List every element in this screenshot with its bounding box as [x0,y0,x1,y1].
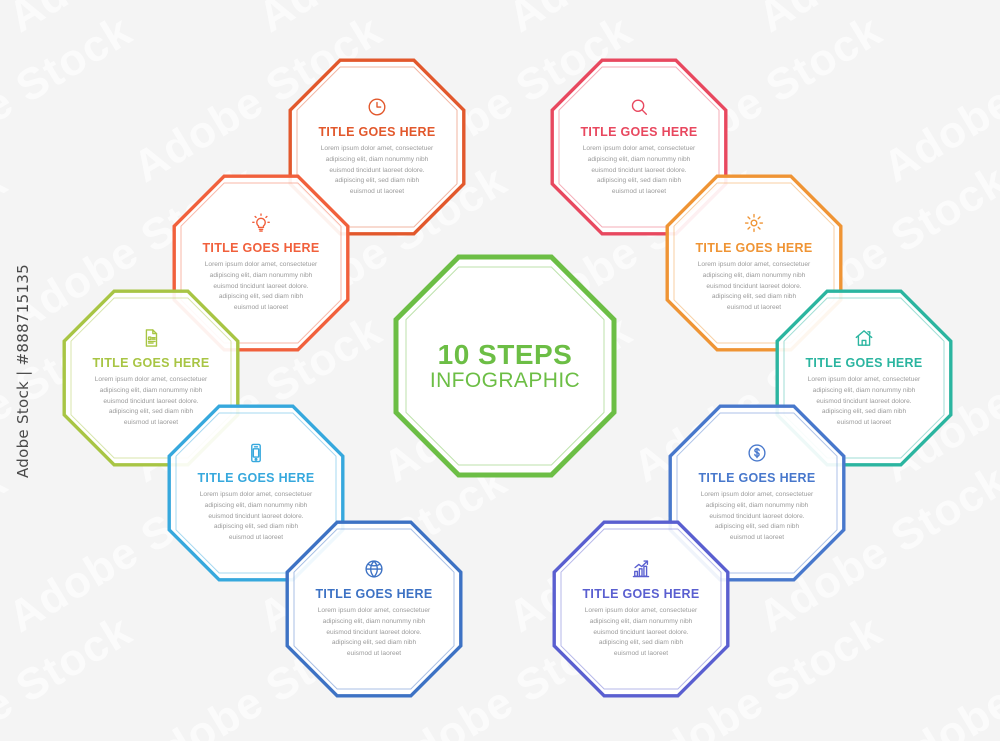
step-description: Lorem ipsum dolor amet, consectetueradip… [585,606,698,659]
step-description-line: adipiscing elit, sed diam nibh [95,407,208,418]
stock-credit-label: Adobe Stock | #888715135 [6,0,40,741]
step-description-line: Lorem ipsum dolor amet, consectetuer [200,490,313,501]
step-description-line: Lorem ipsum dolor amet, consectetuer [701,490,814,501]
step-description-line: euismod tincidunt laoreet dolore. [585,628,698,639]
home-icon [853,327,875,349]
hub-subtitle: INFOGRAPHIC [430,370,580,393]
step-description-line: adipiscing elit, diam nonummy nibh [701,501,814,512]
step-description-line: euismod ut laoreet [808,418,921,429]
step-description-line: Lorem ipsum dolor amet, consectetuer [321,144,434,155]
step-description-line: adipiscing elit, diam nonummy nibh [698,271,811,282]
step-description-line: adipiscing elit, sed diam nibh [321,176,434,187]
step-title: TITLE GOES HERE [698,471,815,485]
step-description: Lorem ipsum dolor amet, consectetueradip… [321,144,434,197]
step-description-line: euismod ut laoreet [701,533,814,544]
step-description: Lorem ipsum dolor amet, consectetueradip… [95,375,208,428]
step-title: TITLE GOES HERE [318,125,435,139]
step-description-line: euismod tincidunt laoreet dolore. [200,512,313,523]
step-description: Lorem ipsum dolor amet, consectetueradip… [583,144,696,197]
step-title: TITLE GOES HERE [202,241,319,255]
step-description-line: euismod ut laoreet [698,303,811,314]
step-card-10[interactable]: TITLE GOES HERELorem ipsum dolor amet, c… [552,520,730,698]
step-content: TITLE GOES HERELorem ipsum dolor amet, c… [685,212,824,313]
step-description-line: adipiscing elit, diam nonummy nibh [321,155,434,166]
step-title: TITLE GOES HERE [197,471,314,485]
hub-title: 10 STEPS [430,340,580,370]
step-description-line: euismod ut laoreet [318,649,431,660]
step-description-line: euismod tincidunt laoreet dolore. [701,512,814,523]
step-description-line: adipiscing elit, diam nonummy nibh [583,155,696,166]
step-description-line: adipiscing elit, diam nonummy nibh [200,501,313,512]
step-description-line: adipiscing elit, sed diam nibh [701,522,814,533]
step-description-line: euismod ut laoreet [200,533,313,544]
growth-chart-icon [630,558,652,580]
step-description-line: adipiscing elit, diam nonummy nibh [808,386,921,397]
step-description-line: euismod ut laoreet [205,303,318,314]
step-description-line: euismod ut laoreet [321,187,434,198]
step-content: TITLE GOES HERELorem ipsum dolor amet, c… [570,96,709,197]
step-content: TITLE GOES HERELorem ipsum dolor amet, c… [192,212,331,313]
step-description-line: euismod tincidunt laoreet dolore. [205,282,318,293]
step-description-line: euismod ut laoreet [95,418,208,429]
step-title: TITLE GOES HERE [580,125,697,139]
step-description: Lorem ipsum dolor amet, consectetueradip… [318,606,431,659]
step-description-line: euismod ut laoreet [583,187,696,198]
step-description-line: adipiscing elit, diam nonummy nibh [318,617,431,628]
mobile-icon [245,442,267,464]
step-content: TITLE GOES HERELorem ipsum dolor amet, c… [187,442,326,543]
step-description-line: euismod tincidunt laoreet dolore. [321,166,434,177]
step-title: TITLE GOES HERE [582,587,699,601]
step-title: TITLE GOES HERE [695,241,812,255]
hub-text: 10 STEPS INFOGRAPHIC [430,340,580,393]
step-description: Lorem ipsum dolor amet, consectetueradip… [698,260,811,313]
step-description: Lorem ipsum dolor amet, consectetueradip… [808,375,921,428]
step-description-line: adipiscing elit, diam nonummy nibh [205,271,318,282]
globe-icon [363,558,385,580]
lightbulb-icon [250,212,272,234]
step-content: TITLE GOES HERELorem ipsum dolor amet, c… [688,442,827,543]
step-description-line: adipiscing elit, sed diam nibh [808,407,921,418]
step-description: Lorem ipsum dolor amet, consectetueradip… [200,490,313,543]
dollar-icon [746,442,768,464]
step-description-line: adipiscing elit, sed diam nibh [318,638,431,649]
step-description-line: adipiscing elit, sed diam nibh [200,522,313,533]
search-icon [628,96,650,118]
step-description-line: Lorem ipsum dolor amet, consectetuer [585,606,698,617]
step-description-line: adipiscing elit, sed diam nibh [205,292,318,303]
stock-credit-text: Adobe Stock | #888715135 [14,264,32,478]
center-hub[interactable]: 10 STEPS INFOGRAPHIC [393,254,617,478]
step-description-line: adipiscing elit, sed diam nibh [698,292,811,303]
step-description-line: adipiscing elit, diam nonummy nibh [585,617,698,628]
step-description-line: euismod tincidunt laoreet dolore. [95,397,208,408]
step-description-line: euismod tincidunt laoreet dolore. [318,628,431,639]
step-description-line: Lorem ipsum dolor amet, consectetuer [698,260,811,271]
step-description: Lorem ipsum dolor amet, consectetueradip… [701,490,814,543]
step-card-5[interactable]: TITLE GOES HERELorem ipsum dolor amet, c… [285,520,463,698]
step-description-line: Lorem ipsum dolor amet, consectetuer [583,144,696,155]
step-description-line: euismod ut laoreet [585,649,698,660]
step-description-line: adipiscing elit, diam nonummy nibh [95,386,208,397]
document-icon [140,327,162,349]
step-content: TITLE GOES HERELorem ipsum dolor amet, c… [795,327,934,428]
gear-icon [743,212,765,234]
step-description-line: euismod tincidunt laoreet dolore. [583,166,696,177]
step-content: TITLE GOES HERELorem ipsum dolor amet, c… [305,558,444,659]
step-description-line: euismod tincidunt laoreet dolore. [808,397,921,408]
step-title: TITLE GOES HERE [92,356,209,370]
step-description-line: Lorem ipsum dolor amet, consectetuer [318,606,431,617]
step-description: Lorem ipsum dolor amet, consectetueradip… [205,260,318,313]
step-description-line: euismod tincidunt laoreet dolore. [698,282,811,293]
step-title: TITLE GOES HERE [315,587,432,601]
step-description-line: adipiscing elit, sed diam nibh [585,638,698,649]
step-description-line: Lorem ipsum dolor amet, consectetuer [95,375,208,386]
step-title: TITLE GOES HERE [805,356,922,370]
step-content: TITLE GOES HERELorem ipsum dolor amet, c… [572,558,711,659]
step-content: TITLE GOES HERELorem ipsum dolor amet, c… [308,96,447,197]
step-description-line: Lorem ipsum dolor amet, consectetuer [205,260,318,271]
clock-icon [366,96,388,118]
step-description-line: Lorem ipsum dolor amet, consectetuer [808,375,921,386]
infographic-stage: 10 STEPS INFOGRAPHIC TITLE GOES HERELore… [0,0,1000,741]
step-description-line: adipiscing elit, sed diam nibh [583,176,696,187]
step-content: TITLE GOES HERELorem ipsum dolor amet, c… [82,327,221,428]
